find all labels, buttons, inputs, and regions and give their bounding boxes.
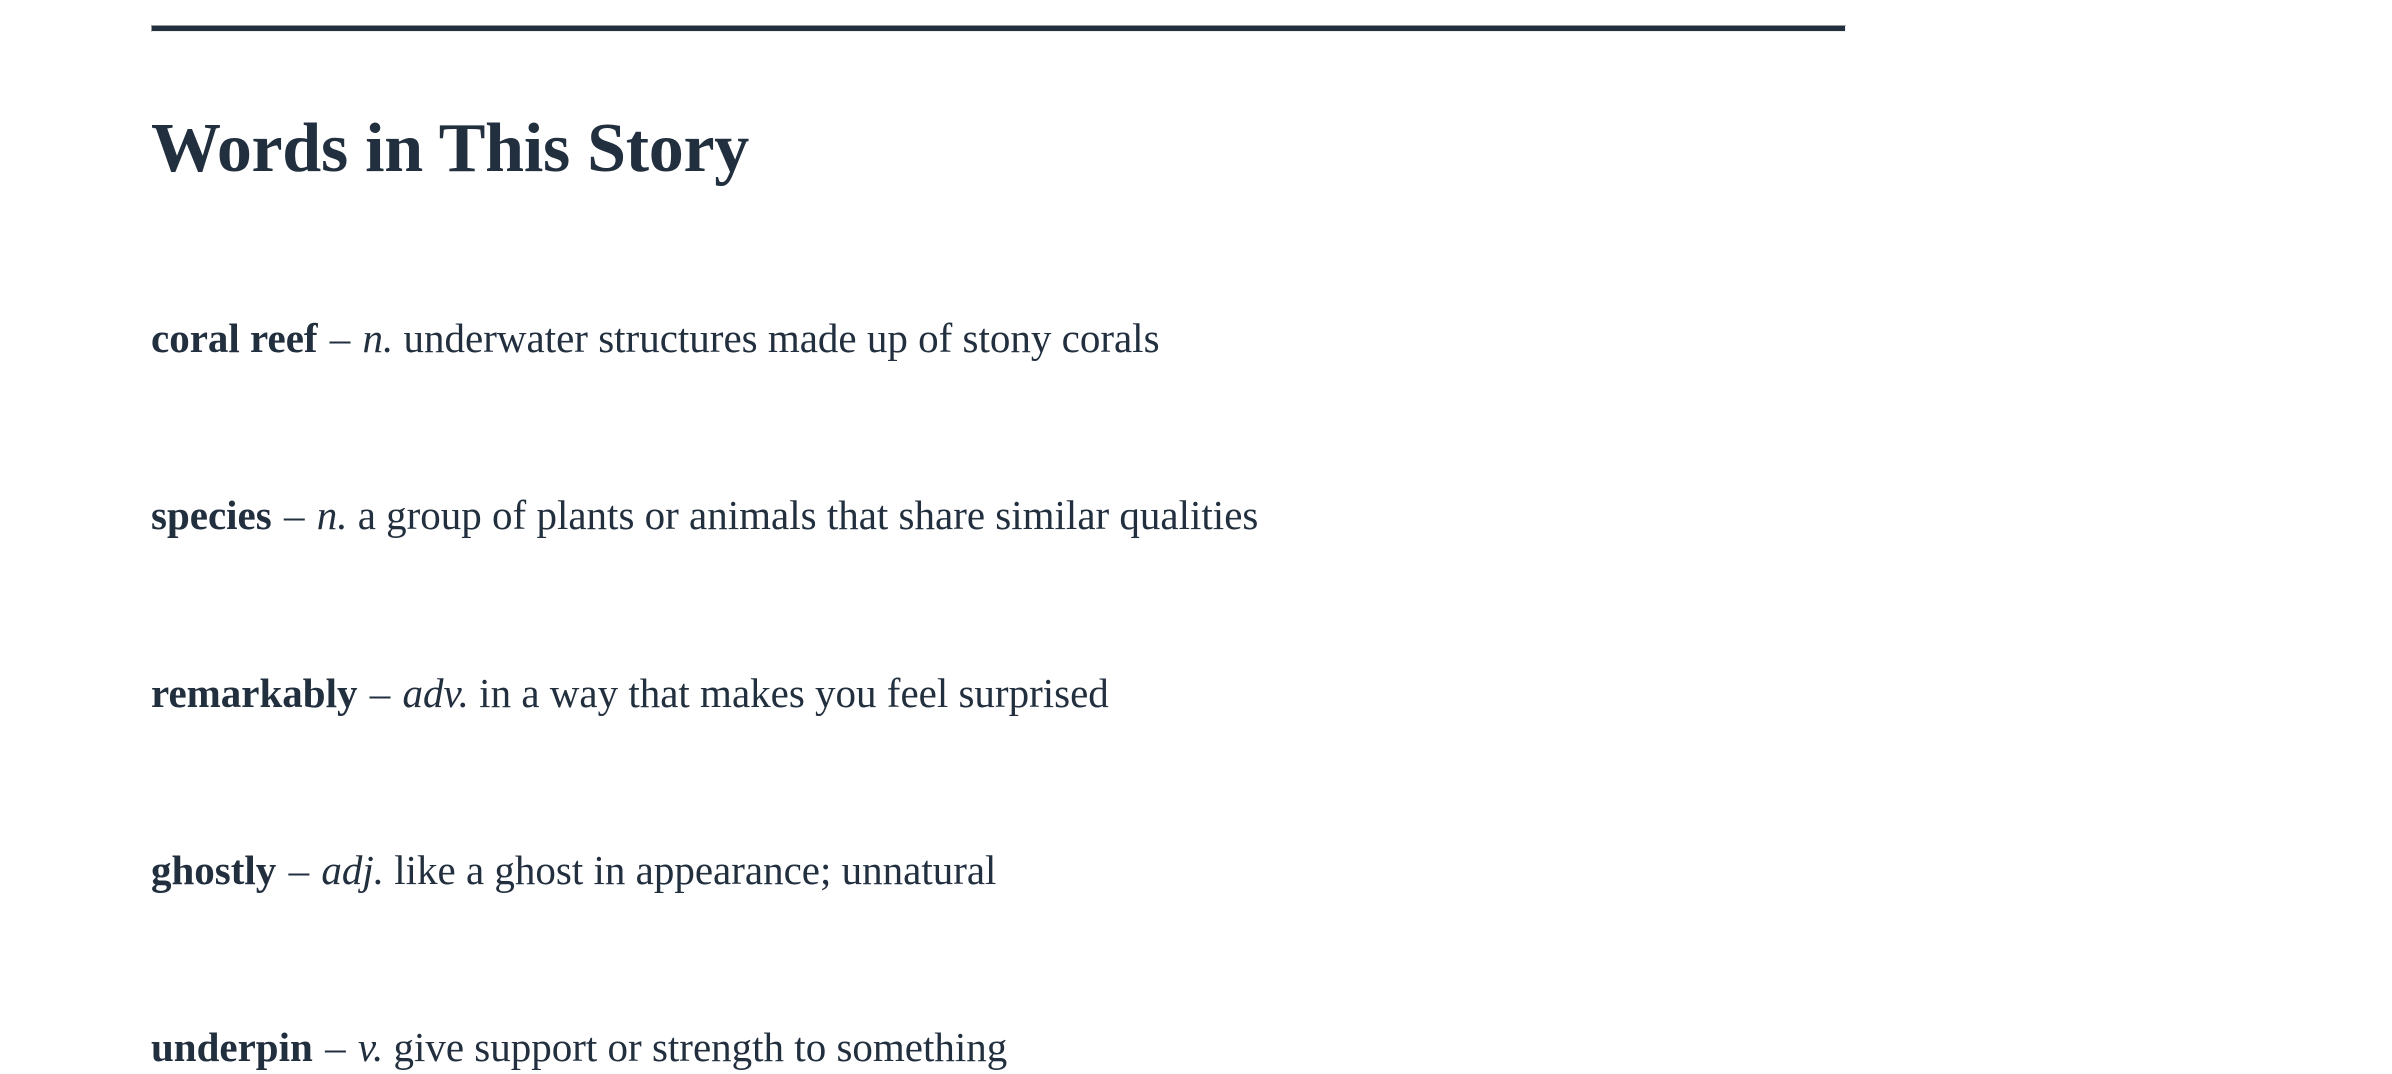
glossary-separator: – — [287, 847, 312, 893]
glossary-part-of-speech: v. — [358, 1024, 383, 1070]
glossary-definition: underwater structures made up of stony c… — [404, 315, 1160, 361]
page-title: Words in This Story — [151, 108, 749, 191]
list-item: underpin – v. give support or strength t… — [151, 1021, 2251, 1074]
glossary-separator: – — [282, 492, 307, 538]
glossary-term: species — [151, 492, 272, 538]
article-words-in-this-story-section: Words in This Story coral reef – n. unde… — [0, 0, 2392, 1059]
glossary-term: remarkably — [151, 670, 358, 716]
list-item: coral reef – n. underwater structures ma… — [151, 312, 2251, 365]
list-item: species – n. a group of plants or animal… — [151, 489, 2251, 542]
glossary-term: coral reef — [151, 315, 318, 361]
glossary-term: ghostly — [151, 847, 276, 893]
glossary-separator: – — [368, 670, 393, 716]
list-item: remarkably – adv. in a way that makes yo… — [151, 667, 2251, 720]
glossary-definition: give support or strength to something — [393, 1024, 1007, 1070]
glossary-part-of-speech: adj. — [321, 847, 384, 893]
glossary-list: coral reef – n. underwater structures ma… — [151, 312, 2251, 1074]
glossary-term: underpin — [151, 1024, 313, 1070]
glossary-part-of-speech: adv. — [403, 670, 469, 716]
glossary-part-of-speech: n. — [363, 315, 394, 361]
glossary-definition: in a way that makes you feel surprised — [479, 670, 1109, 716]
glossary-separator: – — [323, 1024, 348, 1070]
list-item: ghostly – adj. like a ghost in appearanc… — [151, 844, 2251, 897]
glossary-part-of-speech: n. — [317, 492, 348, 538]
glossary-definition: a group of plants or animals that share … — [358, 492, 1259, 538]
section-divider — [151, 25, 1846, 32]
glossary-definition: like a ghost in appearance; unnatural — [394, 847, 996, 893]
glossary-separator: – — [328, 315, 353, 361]
